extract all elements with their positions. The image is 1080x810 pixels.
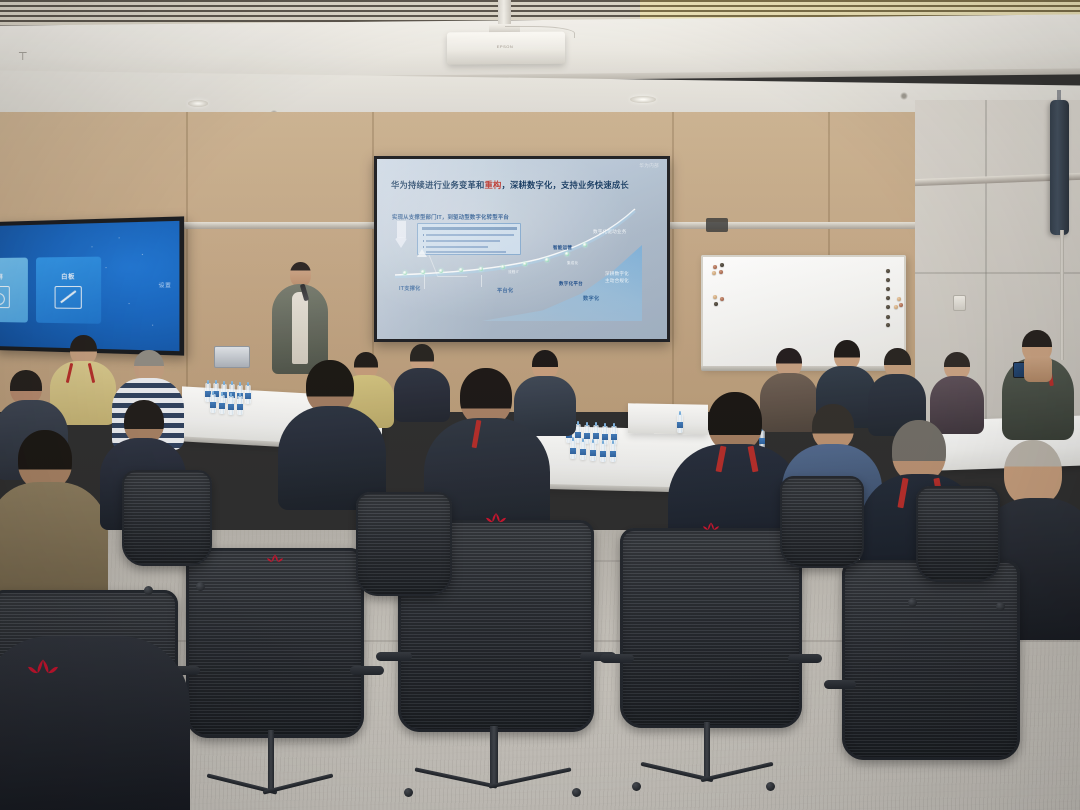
presenter-shirt xyxy=(292,292,308,364)
tv-bg-particle xyxy=(119,237,121,239)
chair-caster xyxy=(196,582,205,591)
laptop-screen[interactable] xyxy=(214,346,250,368)
projector-mount-pole xyxy=(498,0,511,26)
chair-frame xyxy=(186,548,364,738)
slide-callout-box xyxy=(417,223,521,255)
slide-title: 华为持续进行业务变革和重构，深耕数字化，支持业务快速成长 xyxy=(391,179,663,191)
tv-bg-particle xyxy=(105,267,107,268)
whiteboard-magnet[interactable] xyxy=(886,315,890,319)
chart-milestone-dot xyxy=(523,262,527,266)
water-bottle[interactable] xyxy=(228,396,234,415)
water-bottle[interactable] xyxy=(610,443,616,462)
projection-screen[interactable]: 华为内部 华为持续进行业务变革和重构，深耕数字化，支持业务快速成长 实现从支撑型… xyxy=(374,156,670,342)
chart-tag-white-1: 深耕数字化 主动合规化 xyxy=(605,271,629,284)
bullet-dot-icon xyxy=(423,240,425,242)
huawei-logo-icon xyxy=(486,512,506,524)
whiteboard-magnet[interactable] xyxy=(897,297,901,301)
pen-icon xyxy=(55,286,82,309)
chart-stage-label-2: 数字化 xyxy=(583,295,599,302)
water-bottle[interactable] xyxy=(210,394,216,413)
chair-caster xyxy=(404,788,413,797)
tv-tile-label: 投屏 xyxy=(0,272,3,281)
chair-armrest xyxy=(824,680,856,689)
chair-caster xyxy=(908,598,917,607)
water-bottle[interactable] xyxy=(219,395,225,414)
water-bottle[interactable] xyxy=(570,440,576,459)
slide-title-part1: 华为持续进行业务变革和 xyxy=(391,180,484,190)
tv-tile-label: 白板 xyxy=(61,271,75,280)
whiteboard-magnet[interactable] xyxy=(713,295,717,299)
chair-armrest xyxy=(376,652,412,661)
slide-watermark: 华为内部 xyxy=(639,163,659,169)
whiteboard-magnet[interactable] xyxy=(713,265,717,269)
attendee-head xyxy=(18,430,72,490)
chair-post xyxy=(704,722,710,778)
whiteboard-magnet[interactable] xyxy=(886,269,890,273)
water-bottle[interactable] xyxy=(580,441,586,460)
chart-milestone-dot xyxy=(565,252,569,256)
whiteboard-magnet[interactable] xyxy=(886,305,890,309)
office-chair[interactable] xyxy=(356,492,452,596)
attendee-head xyxy=(892,420,946,482)
cast-icon xyxy=(0,286,10,308)
slide-triangle-marker-icon xyxy=(417,249,427,257)
chair-armrest xyxy=(788,654,822,663)
ceiling-light xyxy=(630,96,656,103)
office-chair[interactable] xyxy=(186,548,364,738)
attendee-head xyxy=(708,392,762,452)
whiteboard-magnet[interactable] xyxy=(899,303,903,307)
slide-title-highlight: 重构 xyxy=(484,180,501,190)
whiteboard-magnet[interactable] xyxy=(886,323,890,327)
attendee-foreground xyxy=(0,636,190,810)
whiteboard-magnet[interactable] xyxy=(886,296,890,300)
whiteboard-magnet[interactable] xyxy=(712,271,716,275)
bullet-dot-icon xyxy=(423,246,425,248)
huawei-logo-icon xyxy=(703,522,719,531)
chart-stage-label-1: 平台化 xyxy=(497,287,513,294)
slide-down-arrow-icon xyxy=(394,221,409,249)
hand-holding-phone xyxy=(1024,356,1052,382)
tv-tile-cast[interactable]: 投屏 xyxy=(0,258,28,323)
chair-post xyxy=(268,730,274,792)
chart-milestone-dot xyxy=(545,258,549,262)
water-bottle[interactable] xyxy=(590,442,596,461)
chair-caster xyxy=(572,788,581,797)
whiteboard-magnet[interactable] xyxy=(886,278,890,282)
callout-heading-bar xyxy=(422,227,517,230)
chair-frame xyxy=(842,560,1020,760)
sprinkler-head-icon xyxy=(900,92,908,100)
wall-speaker xyxy=(1050,100,1069,235)
chart-stage-label-0: IT支撑化 xyxy=(399,285,421,292)
office-chair[interactable] xyxy=(620,528,802,728)
chart-milestone-dot xyxy=(479,267,483,271)
attendee-photographer xyxy=(1002,330,1074,440)
chart-tag-blue-0: 智能运营 xyxy=(553,245,572,251)
chair-frame xyxy=(916,486,1000,582)
conference-room-photo: ⊤ EPSON 华为内部 华为持续进行业务变革和重构，深耕数字化，支持业务快速成… xyxy=(0,0,1080,810)
tv-screen: 投屏 白板 设置 xyxy=(0,221,179,351)
slide-subtitle: 实现从支撑型部门IT，到驱动型数字化转型平台 xyxy=(392,213,509,221)
chair-caster xyxy=(632,782,641,791)
callout-line xyxy=(426,251,506,253)
wall-seam xyxy=(186,112,188,412)
chair-post xyxy=(490,726,498,786)
wall-seam xyxy=(985,100,987,430)
huawei-logo-icon xyxy=(267,554,283,563)
tv-tile-whiteboard[interactable]: 白板 xyxy=(36,257,101,324)
tv-bg-particle xyxy=(129,303,131,304)
chair-frame xyxy=(122,470,212,566)
whiteboard-magnet[interactable] xyxy=(720,297,724,301)
whiteboard-magnet[interactable] xyxy=(719,270,723,274)
callout-line xyxy=(426,234,514,236)
callout-leader-line xyxy=(429,255,468,277)
ceiling-light xyxy=(188,100,208,107)
office-chair[interactable] xyxy=(122,470,212,566)
chair-frame xyxy=(620,528,802,728)
presentation-slide: 华为内部 华为持续进行业务变革和重构，深耕数字化，支持业务快速成长 实现从支撑型… xyxy=(377,159,667,339)
chart-tag-blue-1: 数字化平台 xyxy=(559,281,583,287)
whiteboard-magnet[interactable] xyxy=(720,263,724,267)
presenter xyxy=(272,262,328,374)
tv-settings-label[interactable]: 设置 xyxy=(159,282,172,290)
slide-title-part2: ，深耕数字化，支持业务快速成长 xyxy=(501,180,628,190)
huawei-logo-icon xyxy=(28,658,58,676)
whiteboard-magnet[interactable] xyxy=(886,287,890,291)
attendee-head xyxy=(1004,440,1062,506)
office-chair[interactable] xyxy=(916,486,1000,582)
chart-tag-white-mid-1: 集成化 xyxy=(567,260,578,267)
chart-axis-tick xyxy=(481,275,482,287)
projector-brand-label: EPSON xyxy=(482,44,528,49)
wall-av-port xyxy=(706,218,728,232)
office-chair[interactable] xyxy=(842,560,1020,760)
chair-caster xyxy=(144,586,153,595)
wall-seam xyxy=(915,272,1080,274)
tv-bg-particle xyxy=(142,254,144,256)
chart-milestone-dot xyxy=(421,270,425,274)
callout-line xyxy=(426,240,500,242)
wall-thermostat[interactable] xyxy=(953,295,966,311)
tv-bg-particle xyxy=(91,246,92,247)
chair-armrest xyxy=(600,654,634,663)
water-bottle[interactable] xyxy=(237,396,243,415)
office-chair[interactable] xyxy=(780,476,864,568)
chair-armrest xyxy=(350,666,384,675)
chair-caster xyxy=(996,602,1005,611)
wall-seam xyxy=(672,112,674,412)
bullet-dot-icon xyxy=(423,234,425,236)
chart-axis-tick xyxy=(424,275,425,289)
chart-milestone-dot xyxy=(501,265,505,269)
whiteboard-magnet[interactable] xyxy=(894,305,898,309)
whiteboard-magnet[interactable] xyxy=(714,302,718,306)
callout-line xyxy=(426,246,488,248)
tv-bg-particle xyxy=(152,325,154,327)
chart-tag-white-0: 数字化驱动业务 xyxy=(593,229,627,236)
water-bottle[interactable] xyxy=(600,443,606,462)
chair-frame xyxy=(780,476,864,568)
chair-caster xyxy=(766,782,775,791)
water-bottle[interactable] xyxy=(245,385,251,404)
chart-milestone-dot xyxy=(403,271,407,275)
attendee xyxy=(278,360,386,510)
ceiling-hook-icon: ⊤ xyxy=(18,52,30,64)
chart-tag-white-mid-0: 流程IT xyxy=(508,269,519,276)
chair-frame xyxy=(356,492,452,596)
chart-milestone-dot xyxy=(583,243,587,247)
